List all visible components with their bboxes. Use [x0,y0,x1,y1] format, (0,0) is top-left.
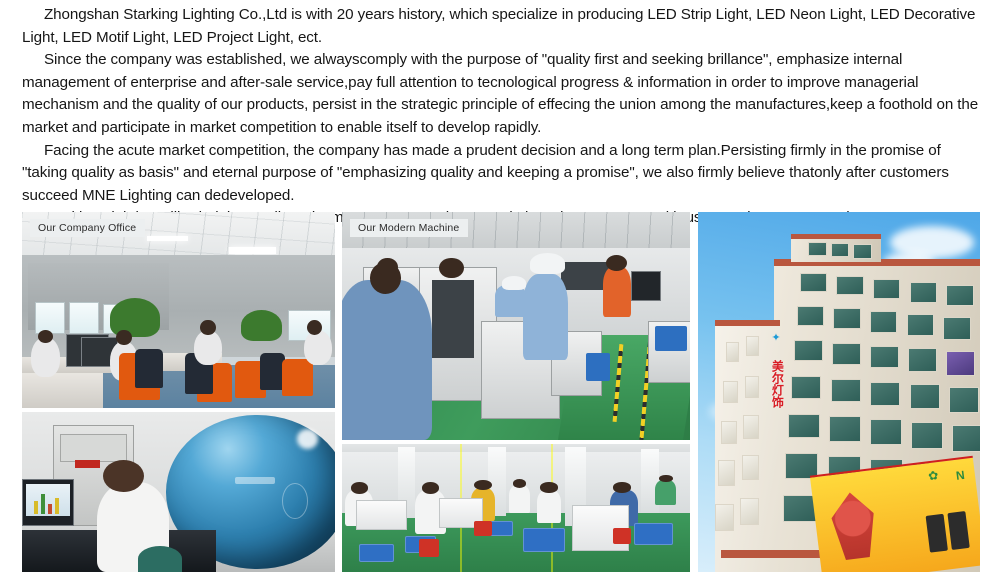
intro-paragraph-3: Facing the acute market competition, the… [22,140,980,208]
assembly-worker [509,485,530,513]
lab-chart-bar [48,504,52,514]
building-window [800,273,827,292]
building-window [832,343,861,365]
building-side-window [745,376,760,398]
blue-bin [586,353,610,380]
machine-operator-head [377,258,398,276]
assembly-worker-head [540,482,557,492]
banner-badge [925,513,947,552]
building-window [870,346,899,369]
banner-flower-icon: ✿ [928,468,940,483]
office-ceiling-light [229,247,276,254]
building-side-window [718,460,736,485]
building-window [794,340,823,361]
office-worker [304,330,332,365]
photo-collage: Our Company Office [22,212,980,572]
building-window [833,308,860,329]
operator-cap [530,253,565,274]
sphere-label [235,477,275,485]
photo-modern-machine: Our Modern Machine [342,212,690,440]
building-window [943,317,970,340]
lab-chart-bar [34,501,38,514]
building-window [788,414,820,438]
assembly-worker-head [474,480,491,490]
building-window [907,314,934,336]
operator-cap [502,276,526,290]
building-window [870,382,900,406]
intro-paragraph-1: Zhongshan Starking Lighting Co.,Ltd is w… [22,4,980,49]
building-side-window [740,498,759,525]
lab-indicator-light [75,460,100,468]
building-window [949,387,979,413]
building-chinese-signage: 美尔灯饰 [771,360,783,482]
company-introduction-text: Zhongshan Starking Lighting Co.,Ltd is w… [22,4,980,230]
office-window [35,302,65,333]
building-roof-trim [715,320,780,326]
assembly-worker [537,490,561,523]
building-window [870,419,902,445]
office-chair [135,349,163,388]
photo-caption-office: Our Company Office [30,219,145,237]
building-side-window [715,504,734,531]
building-window [831,243,850,257]
red-stool [474,521,491,536]
lab-monitor [22,479,74,526]
lab-technician-head [103,460,144,492]
lab-cabinet-panel [60,434,128,462]
machine-operator [495,285,526,317]
office-plant [241,310,282,341]
building-logo-icon: ✦ [771,331,780,344]
banner-letter: N [955,467,965,482]
office-worker-head [116,330,132,346]
work-bench [356,500,407,530]
assembly-worker-head [613,482,630,492]
building-side-window [721,421,737,445]
photo-test-lab [22,412,335,572]
sphere-port [282,483,308,519]
office-desk [22,373,103,408]
building-window [911,422,943,448]
building-penthouse-trim [791,234,881,239]
office-chair [282,359,313,396]
photo-company-office: Our Company Office [22,212,335,408]
building-window [910,282,937,303]
assembly-worker-head [351,482,368,494]
office-window [69,302,99,333]
photo-factory-building: ✦ 美尔灯饰 N ✿ [698,212,980,572]
lab-sphere-stand [138,546,182,572]
page-root: Zhongshan Starking Lighting Co.,Ltd is w… [0,0,1000,581]
intro-paragraph-2: Since the company was established, we al… [22,49,980,139]
building-window [808,242,827,256]
building-window [946,285,973,306]
building-side-window [746,336,759,356]
assembly-worker-head [659,475,673,483]
red-stool [419,539,440,557]
machine-monitor [631,271,661,300]
blue-crate [634,523,672,545]
building-side-window [743,415,759,439]
photo-assembly-line [342,444,690,572]
sphere-highlight [297,429,319,449]
machine-operator-head [439,258,463,279]
machine-operator-orange [603,267,631,317]
blue-bin [655,326,686,351]
office-ceiling-light [147,236,188,242]
building-window [797,306,824,326]
blue-crate [523,528,565,551]
banner-ribbon-icon [829,490,879,562]
assembly-worker [655,480,676,506]
lab-chart-bar [41,494,45,514]
smt-machine-window [432,280,474,358]
machine-operator [523,274,568,361]
lab-chart-bar [55,498,59,514]
building-side-window [723,381,738,403]
building-window [853,244,872,258]
red-stool [613,528,630,543]
building-window-lit [946,351,975,375]
machine-operator [342,280,432,440]
building-window [829,416,861,441]
building-window [831,379,861,403]
building-window [873,279,900,299]
office-worker [31,337,59,376]
blue-crate [359,544,394,562]
building-window [910,384,940,409]
building-side-window [742,455,760,480]
building-window [791,376,821,399]
promotional-banner: N ✿ [810,456,980,572]
assembly-worker-head [513,479,527,488]
building-side-window [726,342,739,362]
building-window [870,311,897,332]
building-window [952,425,980,452]
banner-badge [948,511,970,550]
building-window [908,348,937,372]
building-window [836,276,863,295]
photo-caption-machine: Our Modern Machine [350,219,468,237]
lab-monitor-screen [26,484,70,516]
building-facade-side [715,320,780,572]
